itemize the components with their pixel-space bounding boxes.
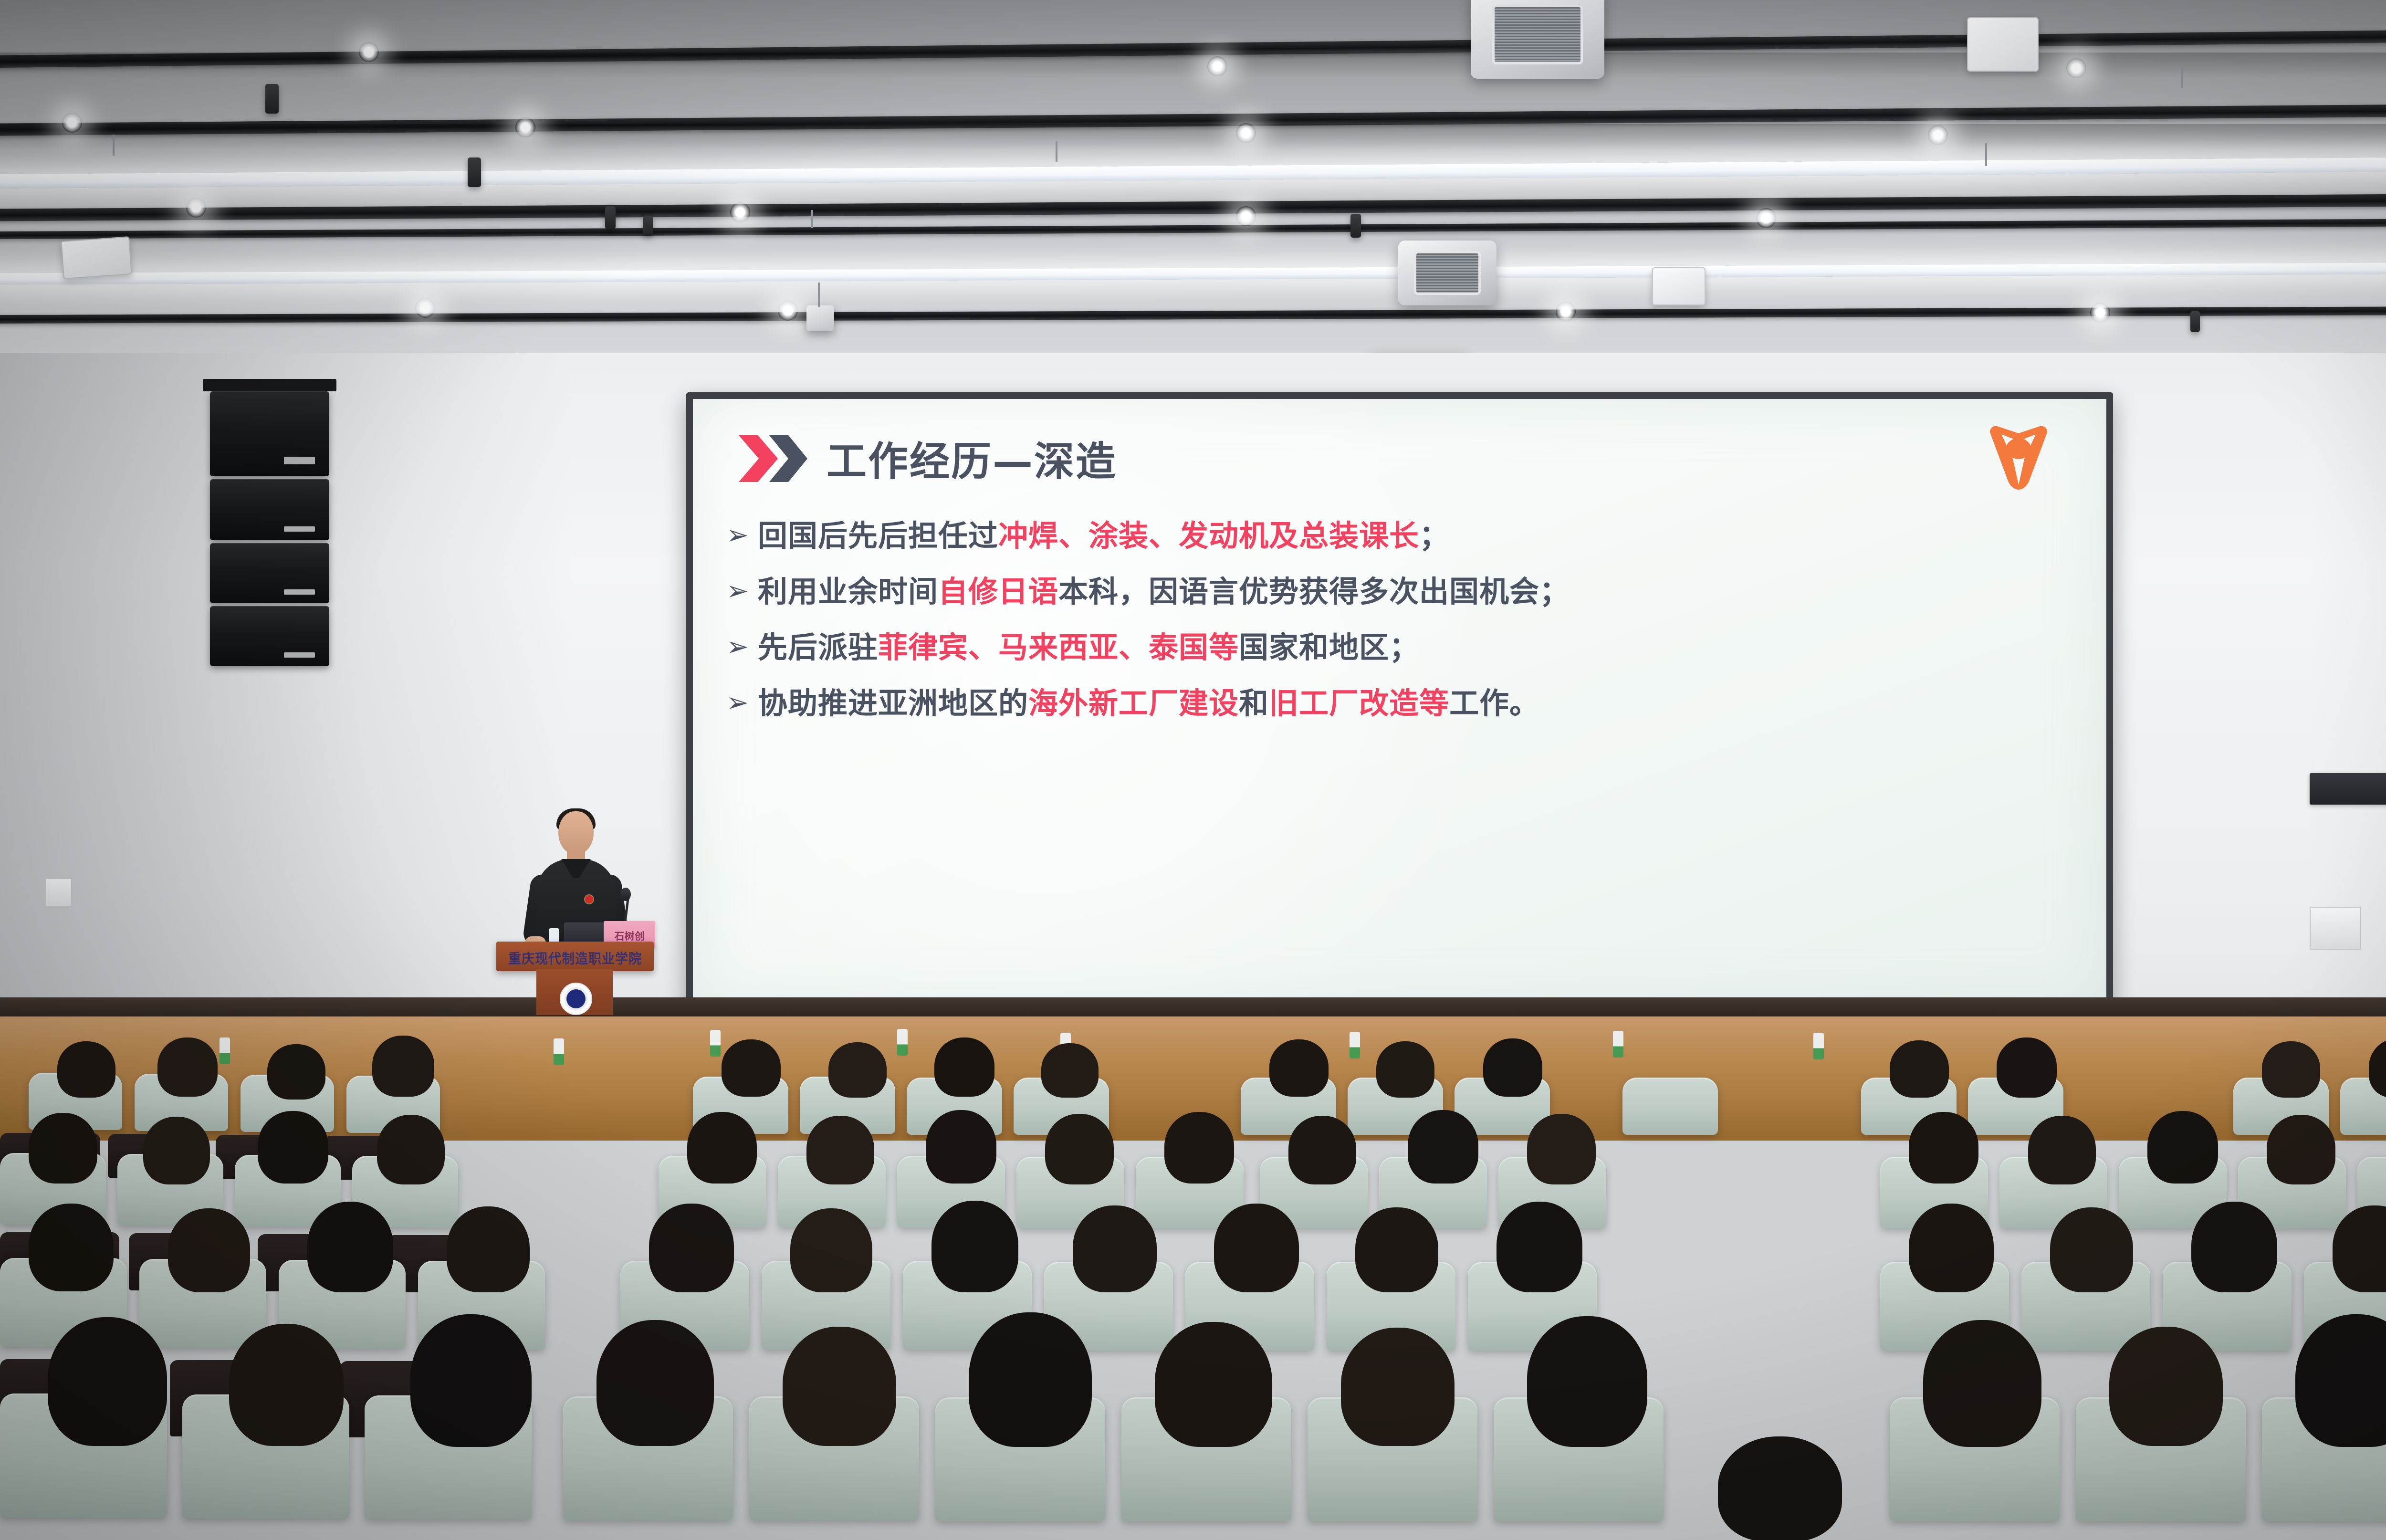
audience-head [931,1201,1018,1292]
audience-head [2262,1041,2320,1098]
audience-head [57,1041,115,1098]
audience-head [1408,1110,1478,1184]
audience-head [828,1042,887,1098]
audience-head [1483,1038,1542,1097]
audience-head [1341,1328,1455,1446]
podium-institution-text: 重庆现代制造职业学院 [496,948,654,967]
bullet-marker-icon: ➢ [726,522,745,549]
audience-head [1997,1037,2057,1098]
ceiling-access-panel [1967,17,2039,72]
slide-title: 工作经历—深造 [827,430,1117,487]
audience-head [307,1202,393,1292]
audience-head [969,1312,1092,1447]
double-chevron-icon [736,430,807,487]
cassette-air-conditioner-2 [1398,241,1496,305]
ceiling-access-panel-2 [1652,267,1706,305]
audience-head [229,1324,344,1446]
audience-head [29,1113,97,1184]
seat[interactable] [1622,1078,1718,1135]
line-array-speaker-cluster-left [210,391,329,678]
audience-head [168,1208,250,1292]
audience-head [143,1117,210,1184]
bullet-text-2: 利用业余时间自修日语本科，因语言优势获得多次出国机会； [758,574,1570,609]
cassette-air-conditioner [1471,0,1604,79]
auditorium-scene: 工作经历—深造 ➢ 回国后先后担任过冲焊、涂装、发动机及总装课长； ➢ 利用业余… [0,0,2386,1540]
audience-head [1073,1205,1157,1292]
name-card-text: 石树创 [604,929,655,943]
audience-head [377,1115,445,1184]
audience-head [1718,1436,1842,1540]
ceiling-light-strip [0,154,2386,189]
lectern-podium: 石树创 重庆现代制造职业学院 [492,790,659,1014]
audience-head [1155,1322,1272,1447]
audience-head [1496,1202,1582,1292]
list-item: ➢ 利用业余时间自修日语本科，因语言优势获得多次出国机会； [726,574,2078,609]
ceiling-access-panel-3 [61,236,132,279]
audience-head [1164,1112,1234,1184]
audience-head [2109,1327,2223,1446]
bullet-segment: 利用业余时间 [758,574,938,609]
audience-head [258,1111,328,1184]
audience-head [1527,1316,1647,1447]
audience-head [1355,1207,1438,1292]
bullet-segment-highlight: 菲律宾、马来西亚、泰国等 [878,630,1239,665]
bullet-segment: 回国后先后担任过 [758,518,998,553]
bullet-segment: 工作。 [1449,686,1539,721]
audience-head [722,1039,781,1097]
audience-head [2147,1111,2218,1184]
ceiling-projector [806,305,834,331]
microphone-icon [620,888,631,901]
audience-head [48,1317,167,1446]
audience-head [1376,1041,1434,1098]
audience-head [2050,1207,2133,1292]
ceiling-light-strip-2 [0,261,2386,285]
audience-head [687,1112,757,1184]
bullet-segment: 国家和地区； [1239,630,1419,665]
bullet-segment: 和 [1239,686,1269,721]
audience-head [372,1036,434,1097]
audience-head [1890,1040,1949,1098]
ceiling [0,0,2386,382]
audience-head [29,1204,114,1291]
audience-head [1909,1204,1994,1292]
bullet-segment-highlight: 自修日语 [938,574,1058,609]
audience-head [790,1208,872,1292]
audience-head [596,1320,714,1446]
audience-head [1527,1114,1596,1184]
bullet-marker-icon: ➢ [726,578,745,605]
audience-head [267,1044,325,1100]
slide-bullet-list: ➢ 回国后先后担任过冲焊、涂装、发动机及总装课长； ➢ 利用业余时间自修日语本科… [726,518,2078,742]
audience-head [157,1037,218,1097]
wall-shadow-right [2309,353,2386,1069]
audience-head [1045,1114,1114,1184]
audience-seating: SONY [0,1016,2386,1540]
school-crest-emblem [560,983,592,1015]
bullet-segment: ； [1419,518,1449,553]
audience-head [926,1110,996,1184]
list-item: ➢ 先后派驻菲律宾、马来西亚、泰国等国家和地区； [726,630,2078,665]
bullet-segment-highlight: 冲焊、涂装、发动机及总装课长 [998,518,1419,553]
bullet-segment: 本科，因语言优势获得多次出国机会； [1058,574,1570,609]
bullet-text-4: 协助推进亚洲地区的海外新工厂建设和旧工厂改造等工作。 [758,686,1539,721]
bullet-marker-icon: ➢ [726,634,745,660]
bullet-segment-highlight: 旧工厂改造等 [1269,686,1449,721]
list-item: ➢ 回国后先后担任过冲焊、涂装、发动机及总装课长； [726,518,2078,553]
audience-head [2267,1115,2335,1184]
bullet-segment: 先后派驻 [758,630,878,665]
light-switch-plate[interactable] [45,878,72,907]
projection-screen: 工作经历—深造 ➢ 回国后先后担任过冲焊、涂装、发动机及总装课长； ➢ 利用业余… [693,399,2106,1011]
bullet-segment: 协助推进亚洲地区的 [758,686,1028,721]
audience-head [1909,1112,1978,1184]
audience-head [447,1206,530,1292]
audience-head [783,1327,896,1446]
audience-head [1923,1320,2041,1447]
audience-head [1041,1043,1099,1098]
yutong-logo [1983,424,2054,490]
audience-head [2028,1116,2096,1184]
list-item: ➢ 协助推进亚洲地区的海外新工厂建设和旧工厂改造等工作。 [726,686,2078,721]
bullet-text-3: 先后派驻菲律宾、马来西亚、泰国等国家和地区； [758,630,1419,665]
bullet-marker-icon: ➢ [726,690,745,716]
wall-panel-box [2310,907,2361,950]
audience-head [1214,1204,1299,1292]
wall-vent-grille [2310,773,2386,805]
audience-head [1288,1116,1356,1184]
slide-header: 工作经历—深造 [736,430,1117,487]
audience-head [649,1204,734,1292]
bullet-segment-highlight: 海外新工厂建设 [1028,686,1239,721]
podium-top-panel: 重庆现代制造职业学院 [496,942,654,971]
audience-head [2191,1202,2277,1292]
bullet-text-1: 回国后先后担任过冲焊、涂装、发动机及总装课长； [758,518,1449,553]
audience-head [806,1116,874,1184]
audience-head [410,1314,532,1447]
audience-head [1269,1039,1329,1097]
audience-head [934,1037,994,1097]
projection-screen-frame: 工作经历—深造 ➢ 回国后先后担任过冲焊、涂装、发动机及总装课长； ➢ 利用业余… [686,392,2113,1017]
